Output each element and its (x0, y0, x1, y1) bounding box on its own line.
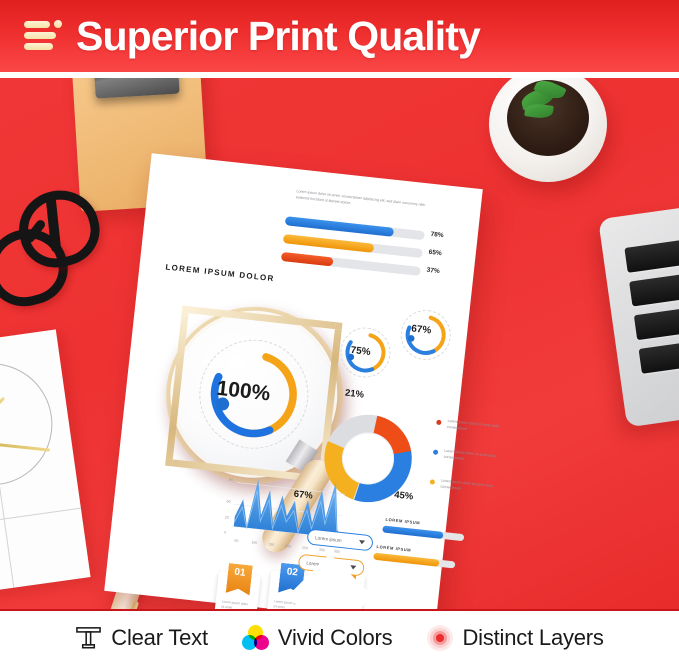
progress-bar-value: 37% (426, 267, 440, 275)
y-tick: 80 (229, 478, 233, 482)
serif-t-icon (75, 624, 102, 651)
header-title: Superior Print Quality (76, 16, 480, 57)
card-number: 01 (226, 563, 253, 595)
horizontal-bar-chart: Lorem ipsum dolor sit amet, consectetuer… (288, 194, 462, 213)
bar-chart-caption: Lorem ipsum dolor sit amet, consectetuer… (296, 189, 426, 214)
feature-clear-text: Clear Text (75, 624, 208, 651)
pie-legend: Lorem ipsum dolor sit amet dolor, consec… (437, 418, 521, 427)
header-banner: Superior Print Quality (0, 0, 679, 72)
x-tick: 150 (268, 542, 274, 547)
progress-bar-value: 78% (430, 231, 444, 239)
labeled-bar-track (373, 553, 455, 569)
gauge-value: 75% (350, 345, 371, 358)
x-tick: 200 (285, 544, 291, 549)
labeled-bar-track (382, 525, 464, 541)
legend-label: Lorem ipsum dolor sit amet dolor, consec… (443, 449, 514, 468)
labeled-bar-caption: LOREM IPSUM (385, 517, 420, 526)
feature-distinct-layers: Distinct Layers (426, 624, 603, 651)
x-tick: 50 (234, 539, 238, 543)
area-chart: 80 60 20 0 50 100 150 200 250 300 350 (219, 463, 356, 562)
promo-image: Superior Print Quality (0, 0, 679, 664)
legend-label: Lorem ipsum dolor sit amet dolor, consec… (440, 478, 511, 497)
legend-dot (433, 449, 439, 455)
feature-label: Distinct Layers (462, 625, 603, 651)
numbered-card: 01 Lorem ipsum dolor sit amet consectetu… (213, 571, 261, 611)
y-tick: 20 (225, 515, 229, 519)
desk-photo: LOREM IPSUM DOLOR Lorem ipsum dolor sit … (0, 78, 679, 611)
donut-gauge-67: 67% (398, 307, 453, 362)
header-divider (0, 72, 679, 78)
legend-dot (430, 479, 436, 485)
laptop-keys (624, 233, 679, 397)
laptop (598, 199, 679, 428)
x-tick: 100 (251, 540, 257, 545)
chevron-down-icon (359, 540, 365, 545)
concentric-rings-icon (426, 624, 453, 651)
y-tick: 0 (224, 530, 226, 534)
feature-vivid-colors: Vivid Colors (242, 624, 393, 651)
legend-item: Lorem ipsum dolor sit amet dolor, consec… (430, 477, 514, 486)
x-tick: 350 (334, 549, 340, 554)
legend-item: Lorem ipsum dolor sit amet dolor, consec… (437, 418, 521, 427)
feature-label: Vivid Colors (278, 625, 393, 651)
legend-item: Lorem ipsum dolor sit amet dolor, consec… (434, 447, 518, 456)
x-tick: 300 (319, 548, 325, 553)
donut-gauge-100: 100% (194, 334, 314, 454)
pie-value-21: 21% (344, 388, 364, 401)
feature-label: Clear Text (111, 625, 208, 651)
y-tick: 60 (226, 499, 230, 503)
legend-dot (436, 420, 442, 426)
infographic-document: LOREM IPSUM DOLOR Lorem ipsum dolor sit … (104, 153, 483, 611)
labeled-bar-caption: LOREM IPSUM (376, 544, 411, 553)
progress-bar-value: 65% (428, 249, 442, 257)
clipboard-clip (92, 78, 180, 99)
pie-value-45: 45% (394, 490, 414, 503)
document-title: LOREM IPSUM DOLOR (165, 262, 275, 283)
stacked-bars-icon (24, 17, 64, 55)
cmy-venn-icon (242, 624, 269, 651)
legend-label: Lorem ipsum dolor sit amet dolor, consec… (447, 419, 518, 438)
gauge-value: 67% (411, 323, 432, 336)
donut-gauge-75: 75% (338, 325, 393, 380)
x-tick: 250 (302, 546, 308, 551)
dropdown-value: Lorem ipsum (315, 535, 342, 543)
feature-bar: Clear Text Vivid Colors Distinct Layers (0, 611, 679, 664)
potted-plant (489, 78, 607, 182)
chevron-down-icon (350, 565, 356, 570)
compass-sheet (0, 329, 91, 600)
